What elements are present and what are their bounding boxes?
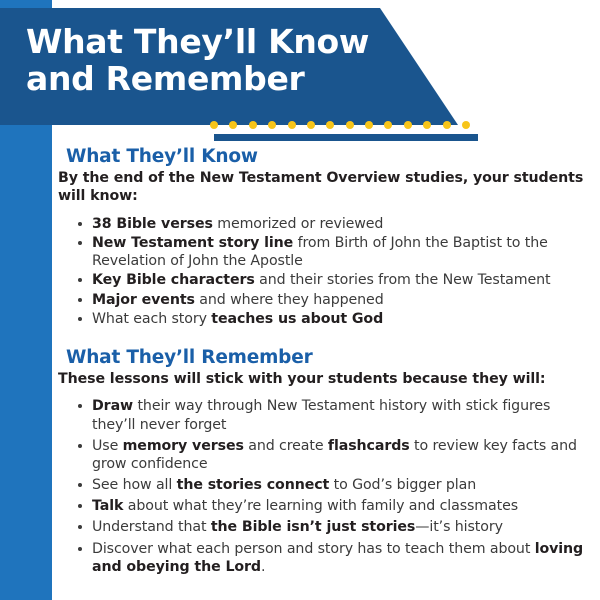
- bullet-rest2: .: [261, 559, 265, 575]
- bullet-rest: Discover what each person and story has …: [92, 541, 535, 557]
- bullet-list-remember: Draw their way through New Testament his…: [58, 397, 592, 576]
- divider-dot: [384, 121, 392, 129]
- section-heading-remember: What They’ll Remember: [66, 347, 592, 368]
- section-what-theyll-know: What They’ll Know By the end of the New …: [58, 146, 592, 328]
- list-item: Use memory verses and create flashcards …: [58, 437, 592, 473]
- divider-dot: [229, 121, 237, 129]
- bullet-rest: Understand that: [92, 519, 211, 535]
- bullet-rest2: to God’s bigger plan: [329, 477, 476, 493]
- bullet-bold-tail: teaches us about God: [211, 311, 383, 327]
- bullet-bold-lead: Key Bible characters: [92, 272, 255, 288]
- main-content: What They’ll Know By the end of the New …: [58, 146, 592, 579]
- divider-dot: [365, 121, 373, 129]
- list-item: New Testament story line from Birth of J…: [58, 234, 592, 270]
- list-item: Draw their way through New Testament his…: [58, 397, 592, 433]
- list-item: 38 Bible verses memorized or reviewed: [58, 215, 592, 233]
- list-item: See how all the stories connect to God’s…: [58, 476, 592, 494]
- bullet-bold-mid2: flashcards: [328, 438, 410, 454]
- list-item: Discover what each person and story has …: [58, 540, 592, 576]
- divider-rule: [214, 133, 478, 141]
- divider-dot: [443, 121, 451, 129]
- bullet-rest: Use: [92, 438, 123, 454]
- divider-dot: [462, 121, 470, 129]
- divider-dot: [346, 121, 354, 129]
- bullet-rest2: —it’s history: [415, 519, 503, 535]
- divider-dot: [288, 121, 296, 129]
- divider-dot: [404, 121, 412, 129]
- divider-dot: [423, 121, 431, 129]
- list-item: Major events and where they happened: [58, 291, 592, 309]
- bullet-bold-lead: New Testament story line: [92, 235, 293, 251]
- page-title: What They’ll Know and Remember: [26, 24, 386, 98]
- decorative-divider: [210, 121, 480, 141]
- bullet-bold-mid: memory verses: [123, 438, 244, 454]
- section-intro-know: By the end of the New Testament Overview…: [58, 169, 592, 206]
- bullet-rest: See how all: [92, 477, 177, 493]
- bullet-rest2: and create: [244, 438, 328, 454]
- bullet-rest: their way through New Testament history …: [92, 398, 550, 432]
- section-intro-remember: These lessons will stick with your stude…: [58, 370, 592, 388]
- divider-dot: [210, 121, 218, 129]
- divider-dot: [268, 121, 276, 129]
- bullet-list-know: 38 Bible verses memorized or reviewed Ne…: [58, 215, 592, 328]
- list-item: Key Bible characters and their stories f…: [58, 271, 592, 289]
- section-heading-know: What They’ll Know: [66, 146, 592, 167]
- bullet-bold-mid: the stories connect: [177, 477, 330, 493]
- bullet-rest: memorized or reviewed: [213, 216, 384, 232]
- bullet-bold-lead: Draw: [92, 398, 133, 414]
- divider-dot-row: [210, 121, 470, 129]
- section-what-theyll-remember: What They’ll Remember These lessons will…: [58, 347, 592, 576]
- list-item: Talk about what they’re learning with fa…: [58, 497, 592, 515]
- divider-dot: [249, 121, 257, 129]
- bullet-rest: What each story: [92, 311, 211, 327]
- list-item: Understand that the Bible isn’t just sto…: [58, 518, 592, 536]
- divider-dot: [326, 121, 334, 129]
- bullet-rest: and where they happened: [195, 292, 384, 308]
- bullet-bold-lead: 38 Bible verses: [92, 216, 213, 232]
- bullet-bold-lead: Major events: [92, 292, 195, 308]
- list-item: What each story teaches us about God: [58, 310, 592, 328]
- bullet-bold-mid: the Bible isn’t just stories: [211, 519, 415, 535]
- bullet-rest: about what they’re learning with family …: [123, 498, 518, 514]
- divider-dot: [307, 121, 315, 129]
- header-banner: What They’ll Know and Remember: [0, 8, 600, 125]
- bullet-bold-lead: Talk: [92, 498, 123, 514]
- bullet-rest: and their stories from the New Testament: [255, 272, 551, 288]
